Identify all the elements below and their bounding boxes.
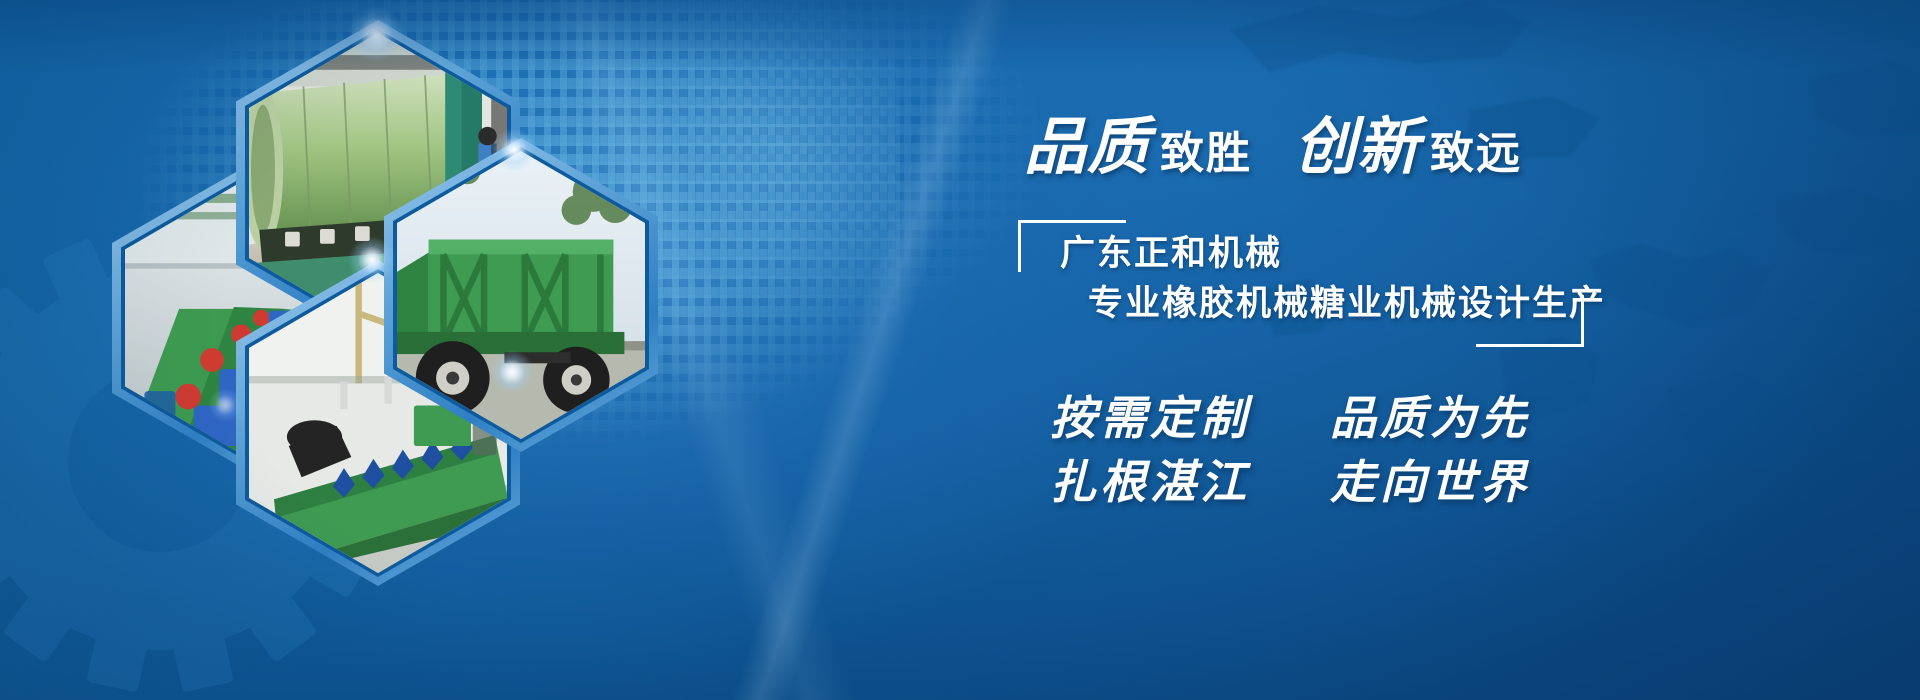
slogan-1-left: 按需定制 [1050, 391, 1250, 445]
headline-part1-big: 品质 [1024, 96, 1150, 186]
slogan-row-1: 按需定制 品质为先 [1050, 387, 1890, 450]
corner-bracket-icon-bottom-right [1476, 295, 1584, 347]
subtitle-bracket-box: 广东正和机械 专业橡胶机械糖业机械设计生产 [1018, 220, 1578, 335]
subtitle-line-1: 广东正和机械 [1060, 230, 1578, 280]
headline-part1-small: 致胜 [1160, 117, 1252, 181]
slogan-group: 按需定制 品质为先 扎根湛江 走向世界 [1050, 387, 1890, 514]
slogan-2-right: 走向世界 [1330, 455, 1530, 509]
hero-banner: 品质 致胜 创新 致远 广东正和机械 专业橡胶机械糖业机械设计生产 按需定制 品… [0, 0, 1920, 700]
corner-bracket-icon-top-left [1018, 220, 1126, 272]
hexagon-photo-trailer-truck[interactable] [384, 138, 658, 452]
headline: 品质 致胜 创新 致远 [1024, 96, 1890, 186]
slogan-row-2: 扎根湛江 走向世界 [1050, 451, 1890, 514]
hexagon-photo-cluster [112, 20, 812, 580]
headline-part2-small: 致远 [1430, 117, 1522, 181]
banner-text-content: 品质 致胜 创新 致远 广东正和机械 专业橡胶机械糖业机械设计生产 按需定制 品… [1010, 96, 1890, 616]
slogan-1-right: 品质为先 [1330, 391, 1530, 445]
slogan-2-left: 扎根湛江 [1050, 455, 1250, 509]
headline-part2-big: 创新 [1294, 96, 1420, 186]
